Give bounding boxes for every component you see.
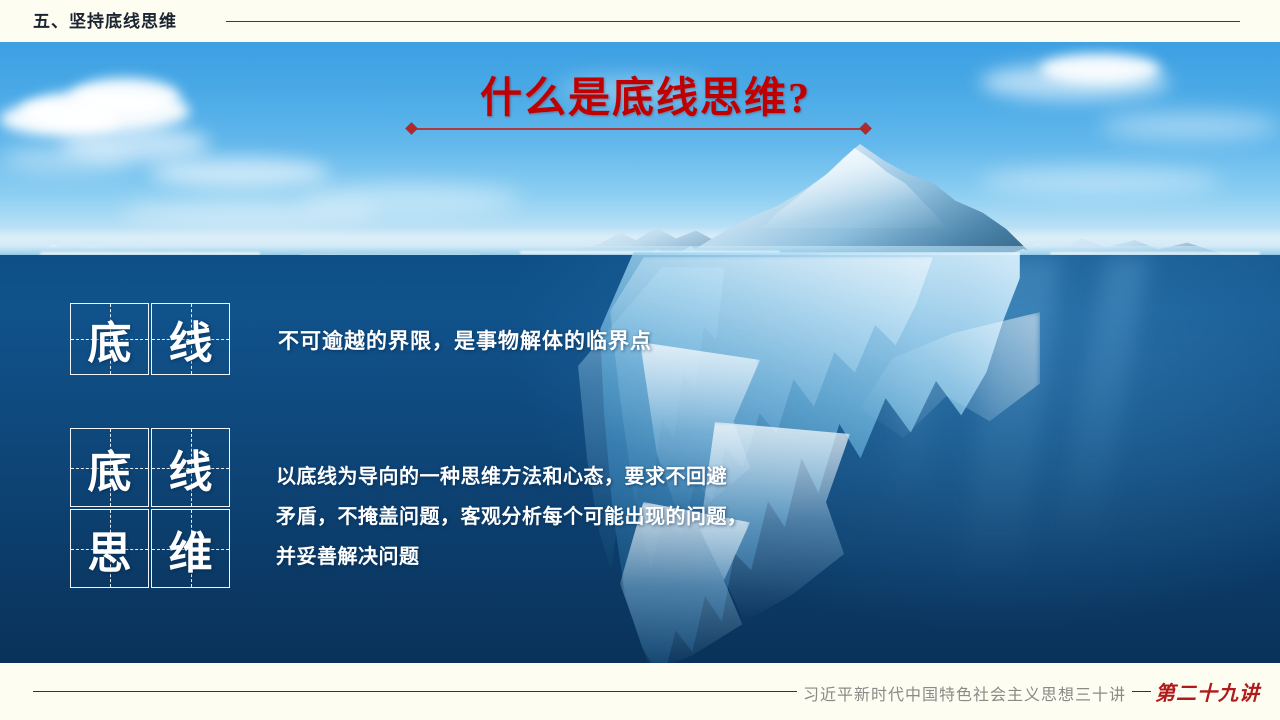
footer-lecture-number: 第二十九讲 <box>1151 677 1264 706</box>
definition-long-line: 以底线为导向的一种思维方法和心态，要求不回避 <box>276 457 856 497</box>
definition-long-text: 以底线为导向的一种思维方法和心态，要求不回避 矛盾，不掩盖问题，客观分析每个可能… <box>276 457 856 577</box>
slide-footer: 习近平新时代中国特色社会主义思想三十讲 第二十九讲 <box>0 663 1280 720</box>
definition-long-line: 并妥善解决问题 <box>276 537 856 577</box>
grid-cell: 线 <box>151 428 230 507</box>
cloud-shape <box>0 146 130 172</box>
grid-cell: 维 <box>151 509 230 588</box>
section-title: 五、坚持底线思维 <box>33 7 177 32</box>
slide-header: 五、坚持底线思维 <box>0 0 1280 42</box>
header-divider-line <box>226 21 1240 22</box>
grid-character: 思 <box>88 517 132 581</box>
grid-character: 底 <box>88 307 132 371</box>
cloud-shape <box>1100 112 1280 140</box>
grid-cell: 底 <box>70 303 149 375</box>
grid-character: 线 <box>169 307 213 371</box>
definition-short-text: 不可逾越的界限，是事物解体的临界点 <box>278 325 652 355</box>
cloud-shape <box>150 158 330 188</box>
cloud-shape <box>120 200 380 226</box>
page-title: 什么是底线思维? <box>480 64 811 125</box>
character-grid-bottomline: 底 线 <box>70 303 230 375</box>
grid-character: 维 <box>169 517 213 581</box>
footer-series-title: 习近平新时代中国特色社会主义思想三十讲 <box>797 681 1132 705</box>
iceberg-illustration: 什么是底线思维? 底 线 底 线 思 维 <box>0 42 1280 663</box>
definition-long-line: 矛盾，不掩盖问题，客观分析每个可能出现的问题， <box>276 497 856 537</box>
cloud-shape <box>1040 54 1160 84</box>
grid-character: 线 <box>169 436 213 500</box>
character-grid-bottomline-thinking: 底 线 思 维 <box>70 428 230 588</box>
grid-character: 底 <box>88 436 132 500</box>
cloud-shape <box>980 168 1220 194</box>
title-underline <box>412 128 864 130</box>
grid-cell: 思 <box>70 509 149 588</box>
grid-cell: 底 <box>70 428 149 507</box>
grid-cell: 线 <box>151 303 230 375</box>
slide-canvas: 五、坚持底线思维 <box>0 0 1280 720</box>
